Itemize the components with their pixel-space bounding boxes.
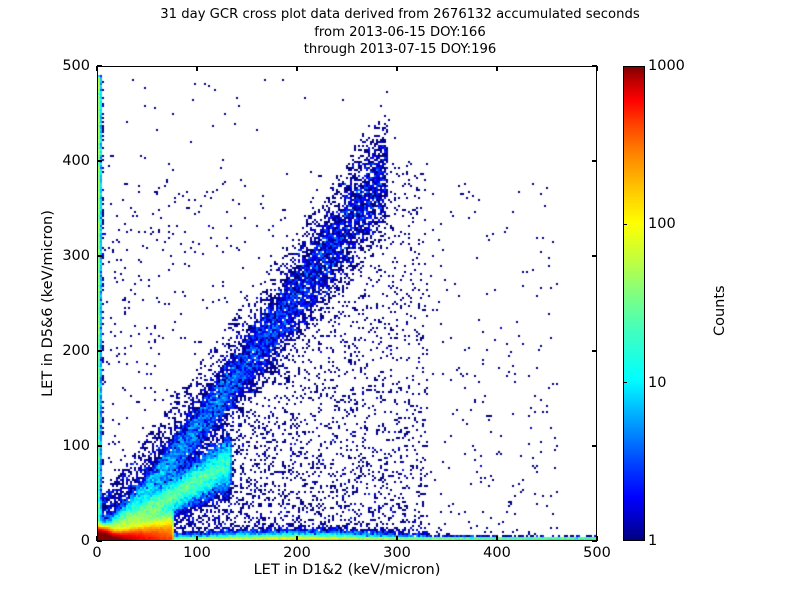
colorbar-tick	[623, 224, 627, 225]
colorbar-tick	[623, 382, 627, 383]
y-tick-right	[592, 65, 597, 66]
title-line-2: from 2013-06-15 DOY:166	[0, 24, 800, 42]
x-tick-top	[496, 66, 497, 71]
x-tick-top	[396, 66, 397, 71]
y-tick-left	[97, 350, 102, 351]
scatter-density-canvas	[98, 67, 597, 541]
figure-canvas: 31 day GCR cross plot data derived from …	[0, 0, 800, 600]
x-tick-label: 300	[383, 545, 411, 561]
colorbar-tick-label: 10	[648, 375, 666, 391]
title-line-3: through 2013-07-15 DOY:196	[0, 41, 800, 59]
y-tick-left	[97, 540, 102, 541]
y-tick-left	[97, 445, 102, 446]
y-tick-left	[97, 160, 102, 161]
x-tick-label: 500	[583, 545, 611, 561]
x-tick-label: 0	[92, 545, 101, 561]
x-axis-label: LET in D1&2 (keV/micron)	[97, 562, 597, 578]
y-axis-label: LET in D5&6 (keV/micron)	[40, 66, 56, 541]
plot-axes[interactable]	[97, 66, 597, 541]
x-tick-bottom	[396, 536, 397, 541]
y-tick-right	[592, 445, 597, 446]
y-tick-right	[592, 160, 597, 161]
colorbar[interactable]	[623, 66, 645, 541]
y-tick-right	[592, 350, 597, 351]
x-tick-top	[296, 66, 297, 71]
title-line-1: 31 day GCR cross plot data derived from …	[0, 6, 800, 24]
colorbar-tick-label: 1000	[648, 58, 685, 74]
y-tick-right	[592, 540, 597, 541]
colorbar-label: Counts	[712, 285, 728, 336]
colorbar-tick-label: 100	[648, 216, 676, 232]
x-tick-label: 200	[283, 545, 311, 561]
colorbar-tick-label: 1	[648, 533, 657, 549]
x-tick-label: 100	[183, 545, 211, 561]
plot-title: 31 day GCR cross plot data derived from …	[0, 6, 800, 59]
y-tick-left	[97, 65, 102, 66]
x-tick-top	[596, 66, 597, 71]
x-tick-top	[96, 66, 97, 71]
x-tick-label: 400	[483, 545, 511, 561]
x-tick-bottom	[496, 536, 497, 541]
x-tick-bottom	[196, 536, 197, 541]
y-tick-right	[592, 255, 597, 256]
x-tick-bottom	[296, 536, 297, 541]
x-tick-top	[196, 66, 197, 71]
y-tick-left	[97, 255, 102, 256]
